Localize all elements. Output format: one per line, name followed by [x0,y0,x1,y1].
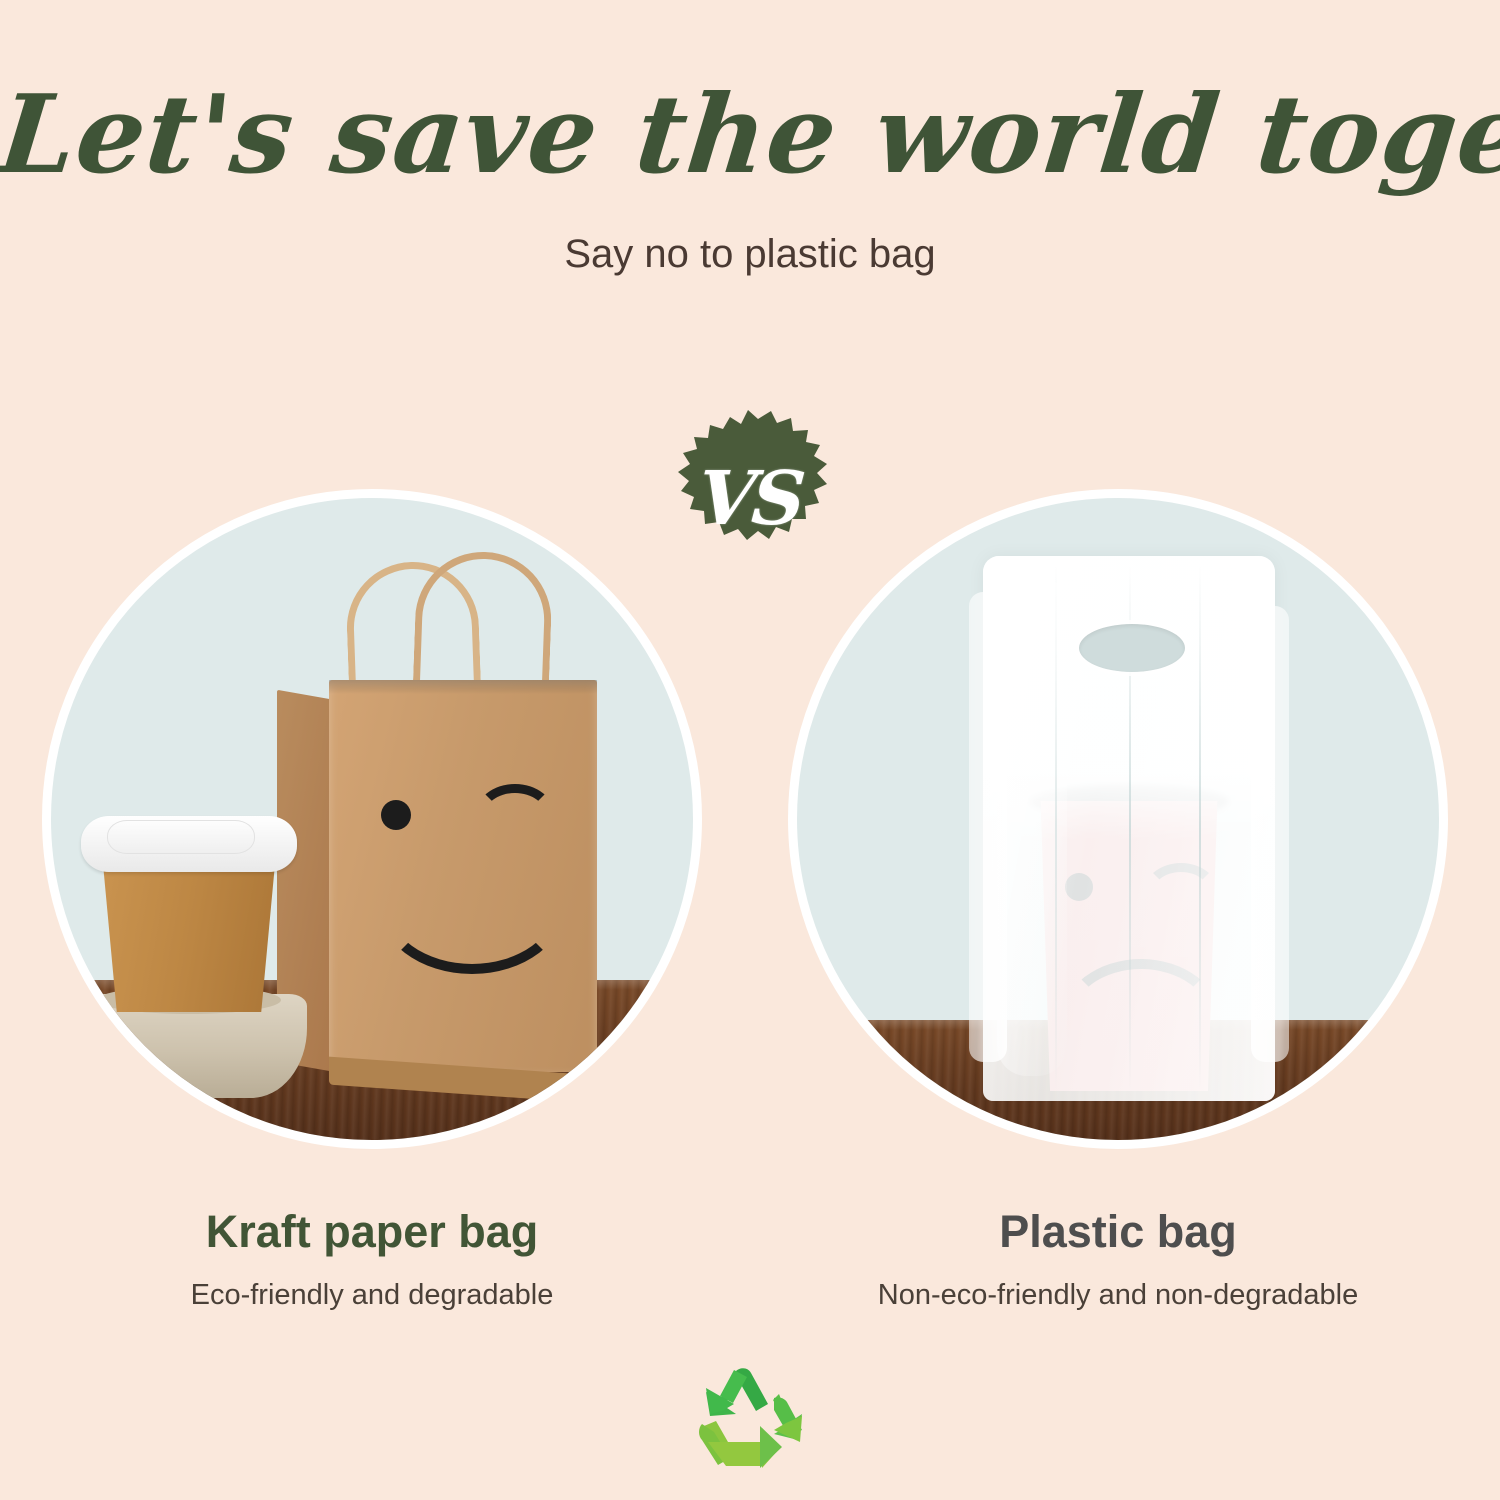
bag-front-panel [329,680,597,1072]
kraft-bag-title: Kraft paper bag [42,1207,702,1257]
page-subtitle: Say no to plastic bag [0,232,1500,277]
page-title: Let's save the world together [0,72,1500,198]
cup-body [103,864,275,1012]
smiley-eye-left [381,800,411,830]
plastic-bag [983,556,1275,1101]
kraft-paper-bag [329,680,597,1080]
cup-lid [81,816,297,872]
plastic-bag-subtitle: Non-eco-friendly and non-degradable [788,1279,1448,1312]
plastic-crease [1199,566,1201,1091]
plastic-bag-title: Plastic bag [788,1207,1448,1257]
coffee-cup [89,798,289,1088]
kraft-bag-photo-circle [42,489,702,1149]
plastic-side-fold-right [1251,606,1289,1062]
plastic-crease [1055,566,1057,1091]
kraft-bag-subtitle: Eco-friendly and degradable [42,1279,702,1312]
comparison-panel-right [788,489,1448,1149]
plastic-bag-handle-hole [1079,624,1185,672]
caption-left: Kraft paper bag Eco-friendly and degrada… [42,1207,702,1312]
bag-handle-right [413,550,554,700]
plastic-bag-photo-circle [788,489,1448,1149]
comparison-panel-left [42,489,702,1149]
caption-right: Plastic bag Non-eco-friendly and non-deg… [788,1207,1448,1312]
recycle-icon [690,1366,810,1478]
smiley-mouth [377,830,567,974]
plastic-side-fold-left [969,592,1007,1062]
cup-lid-top [107,820,255,854]
